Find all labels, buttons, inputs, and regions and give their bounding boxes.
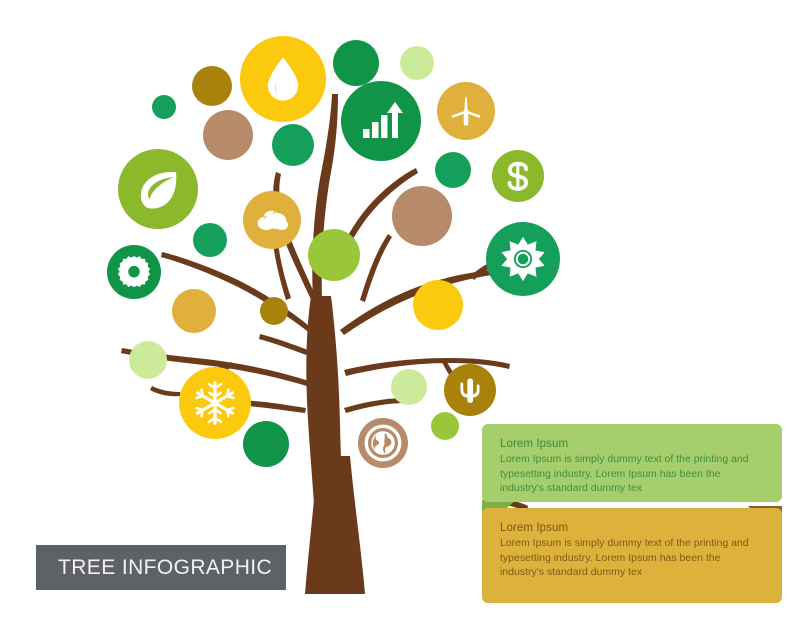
node-leaf[interactable]	[118, 149, 198, 229]
card-green-title: Lorem Ipsum	[500, 438, 764, 450]
globe-icon	[366, 426, 399, 459]
node-cloud[interactable]	[243, 191, 301, 249]
node-gear[interactable]	[107, 245, 161, 299]
decor-circle	[400, 46, 434, 80]
decor-circle	[172, 289, 216, 333]
page-title: TREE INFOGRAPHIC	[58, 556, 272, 580]
info-card-gold[interactable]: Lorem Ipsum Lorem Ipsum is simply dummy …	[482, 508, 782, 603]
node-dollar[interactable]	[492, 150, 544, 202]
decor-circle	[203, 110, 253, 160]
node-globe[interactable]	[358, 418, 408, 468]
node-sun[interactable]	[486, 222, 560, 296]
title-banner: TREE INFOGRAPHIC	[36, 545, 286, 590]
card-green-body: Lorem Ipsum is simply dummy text of the …	[500, 452, 764, 496]
decor-circle	[333, 40, 379, 86]
decor-circle	[243, 421, 289, 467]
info-card-green[interactable]: Lorem Ipsum Lorem Ipsum is simply dummy …	[482, 424, 782, 502]
node-growth-chart[interactable]	[341, 81, 421, 161]
decor-circle	[272, 124, 314, 166]
infographic-canvas: Lorem Ipsum Lorem Ipsum is simply dummy …	[0, 0, 800, 623]
node-water-drop[interactable]	[240, 36, 326, 122]
decor-circle	[152, 95, 176, 119]
decor-circle	[435, 152, 471, 188]
decor-circle	[129, 341, 167, 379]
node-wind-turbine[interactable]	[437, 82, 495, 140]
node-snowflake[interactable]	[179, 367, 251, 439]
decor-circle	[431, 412, 459, 440]
card-gold-body: Lorem Ipsum is simply dummy text of the …	[500, 536, 764, 580]
decor-circle	[308, 229, 360, 281]
node-cactus[interactable]	[444, 364, 496, 416]
decor-circle	[391, 369, 427, 405]
card-gold-title: Lorem Ipsum	[500, 522, 764, 534]
decor-circle	[260, 297, 288, 325]
decor-circle	[193, 223, 227, 257]
decor-circle	[392, 186, 452, 246]
decor-circle	[192, 66, 232, 106]
decor-circle	[413, 280, 463, 330]
